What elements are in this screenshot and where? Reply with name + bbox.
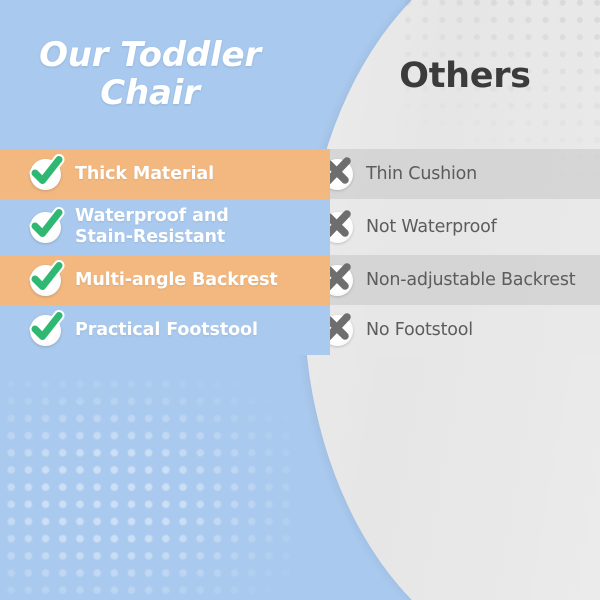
others-row-1-label: Thin Cushion <box>366 164 477 185</box>
ours-heading-line2: Chair <box>0 74 300 112</box>
ours-row-3[interactable]: Multi-angle Backrest <box>0 255 330 305</box>
infographic-canvas: Our Toddler Chair Others <box>0 0 600 600</box>
others-row-4-label: No Footstool <box>366 320 473 341</box>
others-row-4[interactable]: No Footstool <box>300 305 600 355</box>
ours-row-4[interactable]: Practical Footstool <box>0 305 330 355</box>
ours-row-2-text-l1: Waterproof and <box>75 206 229 226</box>
ours-row-4-label: Practical Footstool <box>75 320 258 341</box>
check-icon <box>30 159 61 190</box>
ours-row-1-label: Thick Material <box>75 164 214 185</box>
others-row-2[interactable]: Not Waterproof <box>300 199 600 255</box>
ours-heading: Our Toddler Chair <box>0 36 300 112</box>
check-icon <box>30 315 61 346</box>
ours-row-2[interactable]: Waterproof and Stain-Resistant Waterproo… <box>0 199 330 255</box>
ours-row-1[interactable]: Thick Material <box>0 149 330 199</box>
product-photo <box>0 330 600 600</box>
ours-row-2-text-l2: Stain-Resistant <box>75 227 225 247</box>
check-icon <box>30 265 61 296</box>
others-row-3[interactable]: Non-adjustable Backrest <box>300 255 600 305</box>
others-feature-list: Thin Cushion Not Waterproof <box>300 149 600 355</box>
ours-row-3-label: Multi-angle Backrest <box>75 270 278 291</box>
check-icon <box>30 212 61 243</box>
ours-feature-list: Thick Material Waterproof and Stain-Resi… <box>0 149 330 355</box>
others-row-1[interactable]: Thin Cushion <box>300 149 600 199</box>
others-heading: Others <box>330 55 600 97</box>
ours-row-2-label: Waterproof and Stain-Resistant Waterproo… <box>75 206 229 248</box>
ours-heading-line1: Our Toddler <box>0 36 300 74</box>
others-row-3-label: Non-adjustable Backrest <box>366 270 575 291</box>
others-row-2-label: Not Waterproof <box>366 217 497 238</box>
